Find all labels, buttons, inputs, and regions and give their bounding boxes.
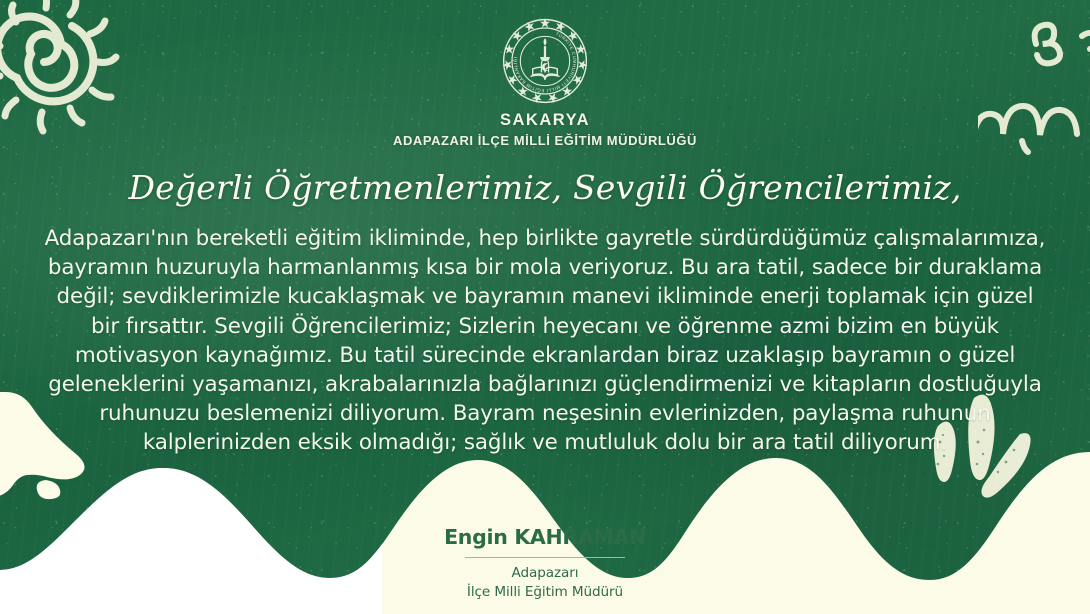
signature-divider <box>465 557 625 558</box>
signer-place: Adapazarı <box>0 564 1090 583</box>
poster-title: Değerli Öğretmenlerimiz, Sevgili Öğrenci… <box>0 168 1090 207</box>
organization-city: SAKARYA <box>0 111 1090 130</box>
meb-emblem-icon: TÜRKİYE CUMHURİYETİ MİLLİ EĞİTİM BAKANLI… <box>501 17 589 105</box>
signer-title: İlçe Milli Eğitim Müdürü <box>0 583 1090 602</box>
signer-name: Engin KAHRAMAN <box>0 525 1090 549</box>
poster-body-text: Adapazarı'nın bereketli eğitim ikliminde… <box>40 224 1050 458</box>
poster-header: TÜRKİYE CUMHURİYETİ MİLLİ EĞİTİM BAKANLI… <box>0 17 1090 148</box>
poster-canvas: TÜRKİYE CUMHURİYETİ MİLLİ EĞİTİM BAKANLI… <box>0 0 1090 614</box>
poster-footer: Engin KAHRAMAN Adapazarı İlçe Milli Eğit… <box>0 525 1090 614</box>
organization-department: ADAPAZARI İLÇE MİLLİ EĞİTİM MÜDÜRLÜĞÜ <box>0 133 1090 148</box>
footer-spacer <box>0 602 1090 614</box>
